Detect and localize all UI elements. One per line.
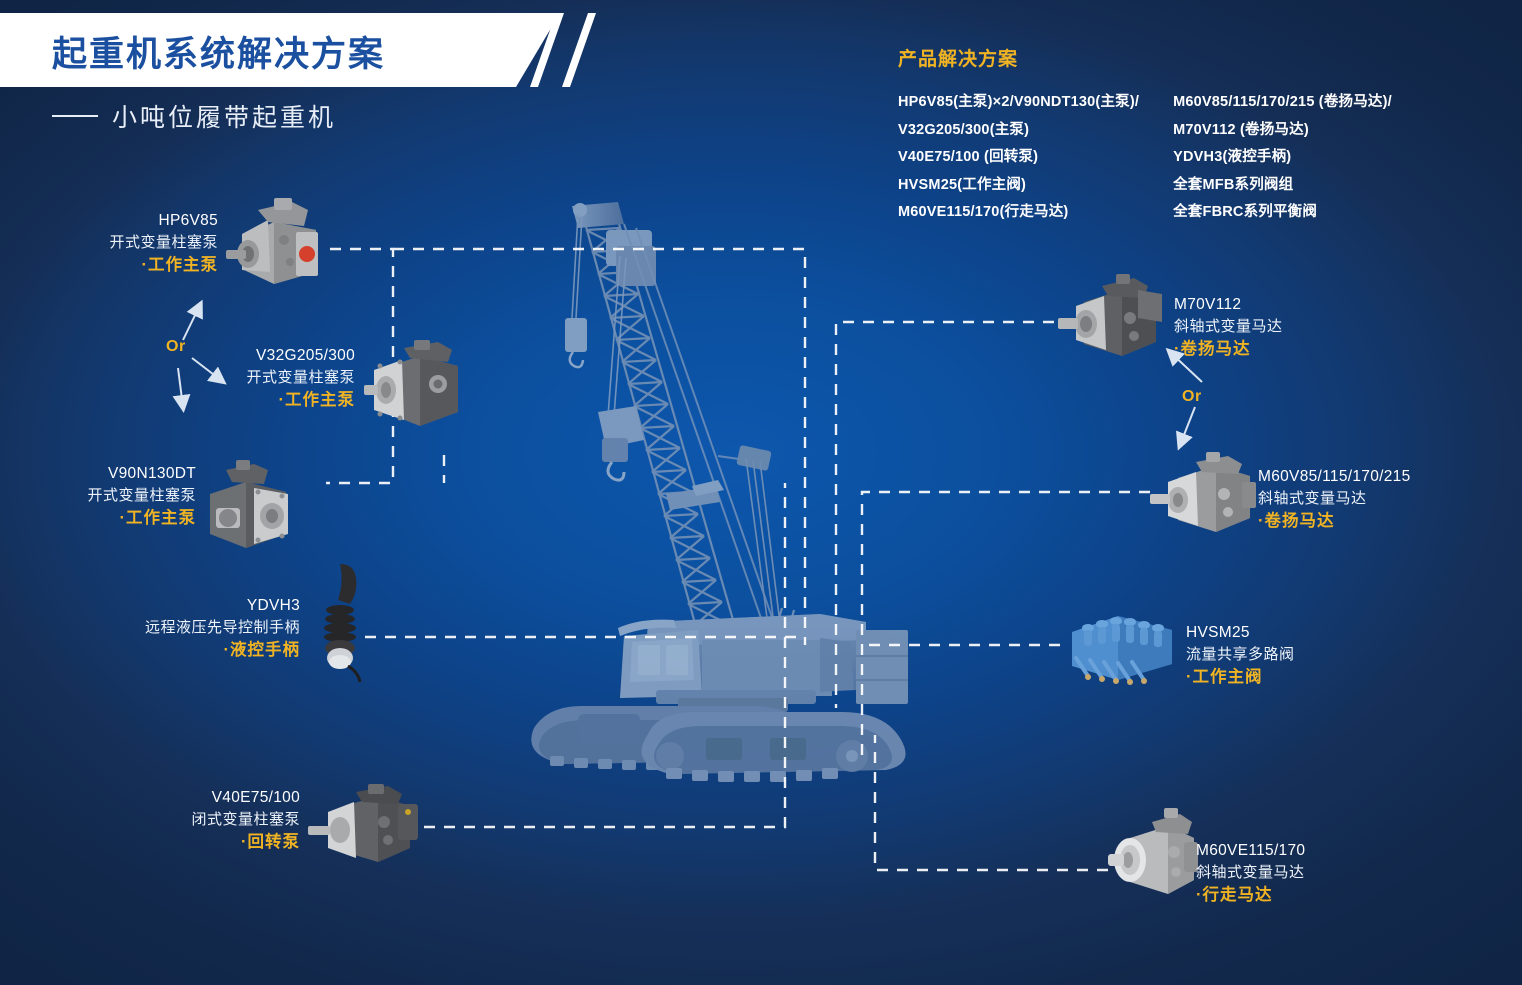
- page-title: 起重机系统解决方案: [52, 26, 385, 77]
- label-desc: 开式变量柱塞泵: [0, 485, 196, 507]
- label-code: V40E75/100: [80, 787, 300, 809]
- solution-line: M60VE115/170(行走马达): [898, 203, 1139, 223]
- solution-line: 全套FBRC系列平衡阀: [1173, 203, 1392, 223]
- subtitle-dash-icon: [52, 115, 98, 117]
- label-desc: 闭式变量柱塞泵: [80, 809, 300, 831]
- label-tag: ·行走马达: [1196, 884, 1305, 908]
- label-tag: ·回转泵: [80, 831, 300, 855]
- product-image-m60ve115: [1096, 808, 1206, 918]
- label-m60ve115: M60VE115/170 斜轴式变量马达 ·行走马达: [1196, 840, 1305, 908]
- product-image-v90n130dt: [192, 460, 300, 558]
- solution-line: M70V112 (卷扬马达): [1173, 121, 1392, 141]
- product-image-hp6v85: [212, 196, 332, 292]
- label-tag: ·卷扬马达: [1174, 338, 1283, 362]
- solution-line: V40E75/100 (回转泵): [898, 148, 1139, 168]
- subtitle-text: 小吨位履带起重机: [112, 98, 336, 134]
- label-code: HP6V85: [0, 210, 218, 232]
- or-label-right: Or: [1182, 388, 1202, 406]
- label-code: V90N130DT: [0, 463, 196, 485]
- label-desc: 开式变量柱塞泵: [110, 367, 355, 389]
- solution-line: YDVH3(液控手柄): [1173, 148, 1392, 168]
- label-tag: ·工作主泵: [0, 507, 196, 531]
- label-desc: 斜轴式变量马达: [1196, 862, 1305, 884]
- label-code: M70V112: [1174, 294, 1283, 316]
- product-solutions-block: 产品解决方案 HP6V85(主泵)×2/V90NDT130(主泵)/ V32G2…: [898, 44, 1392, 223]
- label-hvsm25: HVSM25 流量共享多路阀 ·工作主阀: [1186, 622, 1295, 690]
- label-desc: 流量共享多路阀: [1186, 644, 1295, 666]
- label-desc: 开式变量柱塞泵: [0, 232, 218, 254]
- crawler-crane-illustration: [520, 190, 950, 810]
- product-image-m70v112: [1050, 272, 1168, 374]
- label-tag: ·液控手柄: [60, 639, 300, 663]
- label-m60v85: M60V85/115/170/215 斜轴式变量马达 ·卷扬马达: [1258, 466, 1410, 534]
- label-desc: 斜轴式变量马达: [1258, 488, 1410, 510]
- product-solutions-title: 产品解决方案: [898, 44, 1392, 71]
- product-solutions-column-left: HP6V85(主泵)×2/V90NDT130(主泵)/ V32G205/300(…: [898, 93, 1139, 223]
- label-code: HVSM25: [1186, 622, 1295, 644]
- label-m70v112: M70V112 斜轴式变量马达 ·卷扬马达: [1174, 294, 1283, 362]
- solution-line: M60V85/115/170/215 (卷扬马达)/: [1173, 93, 1392, 113]
- label-hp6v85: HP6V85 开式变量柱塞泵 ·工作主泵: [0, 210, 218, 278]
- label-tag: ·工作主阀: [1186, 666, 1295, 690]
- label-desc: 远程液压先导控制手柄: [60, 617, 300, 639]
- product-image-m60v85: [1146, 452, 1264, 544]
- label-desc: 斜轴式变量马达: [1174, 316, 1283, 338]
- label-v90n130dt: V90N130DT 开式变量柱塞泵 ·工作主泵: [0, 463, 196, 531]
- label-code: M60VE115/170: [1196, 840, 1305, 862]
- product-image-v32g205: [358, 340, 468, 438]
- solution-line: HP6V85(主泵)×2/V90NDT130(主泵)/: [898, 93, 1139, 113]
- solution-line: 全套MFB系列阀组: [1173, 176, 1392, 196]
- product-solutions-column-right: M60V85/115/170/215 (卷扬马达)/ M70V112 (卷扬马达…: [1173, 93, 1392, 223]
- solution-line: HVSM25(工作主阀): [898, 176, 1139, 196]
- label-tag: ·卷扬马达: [1258, 510, 1410, 534]
- solution-line: V32G205/300(主泵): [898, 121, 1139, 141]
- label-code: M60V85/115/170/215: [1258, 466, 1410, 488]
- product-solutions-columns: HP6V85(主泵)×2/V90NDT130(主泵)/ V32G205/300(…: [898, 93, 1392, 223]
- product-image-hvsm25: [1054, 606, 1184, 692]
- label-v32g205: V32G205/300 开式变量柱塞泵 ·工作主泵: [110, 345, 355, 413]
- label-tag: ·工作主泵: [110, 389, 355, 413]
- page-subtitle: 小吨位履带起重机: [52, 98, 336, 134]
- label-code: YDVH3: [60, 595, 300, 617]
- product-image-v40e75: [302, 782, 424, 874]
- label-v40e75: V40E75/100 闭式变量柱塞泵 ·回转泵: [80, 787, 300, 855]
- label-tag: ·工作主泵: [0, 254, 218, 278]
- label-ydvh3: YDVH3 远程液压先导控制手柄 ·液控手柄: [60, 595, 300, 663]
- product-image-ydvh3: [312, 562, 374, 684]
- label-code: V32G205/300: [110, 345, 355, 367]
